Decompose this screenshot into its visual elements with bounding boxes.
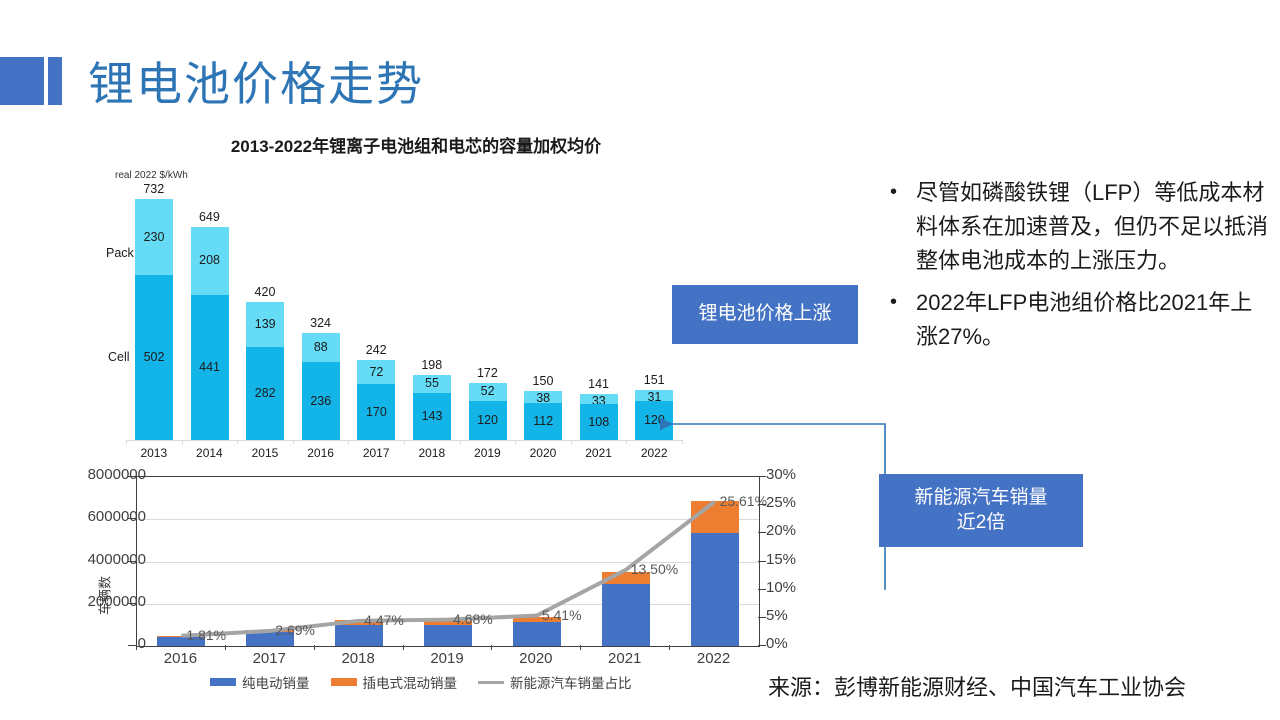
nev-sales-x-label: 2016 <box>136 650 224 667</box>
nev-sales-y2-tick-mark <box>758 645 766 646</box>
battery-price-chart: 2013-2022年锂离子电池组和电芯的容量加权均价 real 2022 $/k… <box>96 128 696 468</box>
battery-price-cell-segment: 143 <box>413 393 451 440</box>
nev-share-data-label: 5.41% <box>542 607 582 623</box>
callout-price-increase[interactable]: 锂电池价格上涨 <box>672 285 858 344</box>
battery-price-total-value: 198 <box>404 358 460 372</box>
battery-price-cell-value: 170 <box>357 405 395 419</box>
battery-price-plot-area: 2305027322084416491392824208823632472170… <box>126 190 682 440</box>
battery-price-bar-stack: 33108 <box>580 394 618 440</box>
battery-price-bar-group: 88236324 <box>293 190 349 440</box>
battery-price-cell-segment: 112 <box>524 403 562 440</box>
nev-sales-x-tick <box>225 645 226 650</box>
battery-price-cell-segment: 236 <box>302 362 340 440</box>
battery-price-pack-segment: 230 <box>135 199 173 275</box>
battery-price-bar-stack: 55143 <box>413 375 451 440</box>
battery-price-cell-value: 108 <box>580 415 618 429</box>
battery-price-pack-segment: 72 <box>357 360 395 384</box>
battery-price-bar-stack: 52120 <box>469 383 507 440</box>
nev-sales-y-tick-label: 6000000 <box>76 508 146 525</box>
battery-price-pack-segment: 31 <box>635 390 673 400</box>
battery-price-cell-segment: 108 <box>580 404 618 440</box>
battery-price-x-tick <box>460 440 461 444</box>
callout-sales-text: 新能源汽车销量 近2倍 <box>914 486 1047 535</box>
nev-share-data-label: 1.81% <box>186 627 226 643</box>
nev-sales-x-label: 2022 <box>670 650 758 667</box>
battery-price-cell-value: 441 <box>191 360 229 374</box>
legend-label-bev: 纯电动销量 <box>242 672 310 692</box>
bullet-marker-icon: • <box>890 176 916 278</box>
battery-price-total-value: 150 <box>515 374 571 388</box>
bullet-marker-icon: • <box>890 286 916 354</box>
nev-sales-y2-tick-label: 5% <box>766 607 826 624</box>
battery-price-cell-value: 143 <box>413 409 451 423</box>
battery-price-pack-value: 72 <box>357 365 395 379</box>
battery-price-pack-segment: 208 <box>191 227 229 295</box>
battery-price-x-label: 2018 <box>404 446 460 460</box>
battery-price-pack-value: 52 <box>469 384 507 398</box>
battery-price-cell-value: 236 <box>302 394 340 408</box>
battery-price-pack-segment: 52 <box>469 383 507 400</box>
battery-price-total-value: 151 <box>626 373 682 387</box>
nev-sales-y-tick-mark <box>128 645 136 646</box>
battery-price-cell-segment: 282 <box>246 347 284 440</box>
nev-sales-x-label: 2019 <box>403 650 491 667</box>
battery-price-unit-label: real 2022 $/kWh <box>115 170 188 181</box>
battery-price-cell-value: 502 <box>135 350 173 364</box>
nev-sales-x-label: 2020 <box>492 650 580 667</box>
battery-price-bar-group: 72170242 <box>348 190 404 440</box>
battery-price-x-tick <box>404 440 405 444</box>
battery-price-cell-segment: 502 <box>135 275 173 440</box>
battery-price-bar-stack: 208441 <box>191 227 229 440</box>
nev-sales-x-tick <box>314 645 315 650</box>
battery-price-x-label: 2020 <box>515 446 571 460</box>
page-title: 锂电池价格走势 <box>88 48 424 114</box>
nev-sales-x-label: 2017 <box>225 650 313 667</box>
nev-sales-y2-tick-mark <box>758 617 766 618</box>
legend-item-share: 新能源汽车销量占比 <box>478 672 632 692</box>
battery-price-bar-group: 38112150 <box>515 190 571 440</box>
legend-label-share: 新能源汽车销量占比 <box>510 672 632 692</box>
battery-price-total-value: 420 <box>237 285 293 299</box>
battery-price-x-label: 2014 <box>182 446 238 460</box>
battery-price-bar-group: 208441649 <box>182 190 238 440</box>
battery-price-cell-segment: 120 <box>469 401 507 440</box>
battery-price-total-value: 242 <box>348 343 404 357</box>
battery-price-pack-value: 208 <box>191 253 229 267</box>
battery-price-pack-segment: 139 <box>246 302 284 348</box>
battery-price-x-label: 2019 <box>460 446 516 460</box>
battery-price-total-value: 172 <box>460 366 516 380</box>
battery-price-pack-value: 139 <box>246 317 284 331</box>
nev-sales-legend: 纯电动销量 插电式混动销量 新能源汽车销量占比 <box>210 672 646 692</box>
battery-price-bar-stack: 230502 <box>135 199 173 440</box>
nev-sales-y-tick-label: 8000000 <box>76 466 146 483</box>
legend-label-phev: 插电式混动销量 <box>363 672 458 692</box>
header-accent-bar-narrow <box>48 57 62 105</box>
battery-price-cell-segment: 441 <box>191 295 229 440</box>
battery-price-pack-segment: 88 <box>302 333 340 362</box>
battery-price-bar-stack: 139282 <box>246 302 284 440</box>
battery-price-x-tick <box>515 440 516 444</box>
nev-sales-y-tick-label: 2000000 <box>76 593 146 610</box>
battery-price-x-tick <box>293 440 294 444</box>
battery-price-x-tick <box>626 440 627 444</box>
nev-share-data-label: 4.47% <box>364 612 404 628</box>
nev-sales-y2-tick-label: 0% <box>766 635 826 652</box>
battery-price-x-tick <box>348 440 349 444</box>
battery-price-total-value: 649 <box>182 210 238 224</box>
bullet-item: •2022年LFP电池组价格比2021年上涨27%。 <box>890 286 1270 354</box>
battery-price-bar-stack: 72170 <box>357 360 395 440</box>
battery-price-total-value: 324 <box>293 316 349 330</box>
battery-price-cell-value: 112 <box>524 414 562 428</box>
legend-line-share <box>478 681 504 684</box>
battery-price-x-tick <box>237 440 238 444</box>
battery-price-pack-value: 230 <box>135 230 173 244</box>
nev-sales-x-tick <box>580 645 581 650</box>
nev-sales-x-label: 2018 <box>314 650 402 667</box>
battery-price-pack-value: 88 <box>302 340 340 354</box>
nev-sales-x-tick <box>403 645 404 650</box>
battery-price-bar-stack: 38112 <box>524 391 562 440</box>
battery-price-x-tick <box>182 440 183 444</box>
battery-price-x-tick <box>571 440 572 444</box>
battery-price-cell-value: 120 <box>469 413 507 427</box>
battery-price-pack-segment: 33 <box>580 394 618 405</box>
nev-sales-x-tick <box>136 645 137 650</box>
battery-price-pack-segment: 55 <box>413 375 451 393</box>
legend-item-bev: 纯电动销量 <box>210 672 310 692</box>
bullet-text: 尽管如磷酸铁锂（LFP）等低成本材料体系在加速普及，但仍不足以抵消整体电池成本的… <box>916 176 1270 278</box>
legend-item-phev: 插电式混动销量 <box>331 672 458 692</box>
battery-price-total-value: 141 <box>571 377 627 391</box>
bullet-item: •尽管如磷酸铁锂（LFP）等低成本材料体系在加速普及，但仍不足以抵消整体电池成本… <box>890 176 1270 278</box>
nev-sales-x-tick <box>491 645 492 650</box>
nev-sales-y-tick-mark <box>128 561 136 562</box>
nev-sales-y-tick-mark <box>128 476 136 477</box>
battery-price-cell-segment: 170 <box>357 384 395 440</box>
nev-share-data-label: 4.68% <box>453 611 493 627</box>
nev-share-data-label: 2.69% <box>275 622 315 638</box>
battery-price-pack-segment: 38 <box>524 391 562 404</box>
battery-price-chart-title: 2013-2022年锂离子电池组和电芯的容量加权均价 <box>156 132 676 157</box>
legend-swatch-bev <box>210 678 236 686</box>
battery-price-x-label: 2015 <box>237 446 293 460</box>
battery-price-bar-group: 55143198 <box>404 190 460 440</box>
battery-price-bar-group: 33108141 <box>571 190 627 440</box>
nev-sales-y-tick-label: 4000000 <box>76 551 146 568</box>
battery-price-bar-group: 139282420 <box>237 190 293 440</box>
bullet-list: •尽管如磷酸铁锂（LFP）等低成本材料体系在加速普及，但仍不足以抵消整体电池成本… <box>890 176 1270 362</box>
battery-price-cell-value: 282 <box>246 386 284 400</box>
callout-sales-growth[interactable]: 新能源汽车销量 近2倍 <box>879 474 1083 547</box>
battery-price-x-label: 2013 <box>126 446 182 460</box>
source-note: 来源：彭博新能源财经、中国汽车工业协会 <box>768 670 1186 702</box>
battery-price-x-label: 2016 <box>293 446 349 460</box>
callout-connector-arrow <box>640 405 890 605</box>
battery-price-bar-stack: 88236 <box>302 333 340 440</box>
battery-price-bar-group: 52120172 <box>460 190 516 440</box>
nev-sales-y-tick-mark <box>128 518 136 519</box>
battery-price-x-tick <box>126 440 127 444</box>
battery-price-pack-value: 55 <box>413 376 451 390</box>
nev-sales-x-tick <box>669 645 670 650</box>
header-accent-bar-wide <box>0 57 44 105</box>
bullet-text: 2022年LFP电池组价格比2021年上涨27%。 <box>916 286 1270 354</box>
legend-swatch-phev <box>331 678 357 686</box>
battery-price-total-value: 732 <box>126 182 182 196</box>
battery-price-x-label: 2017 <box>348 446 404 460</box>
battery-price-bar-group: 230502732 <box>126 190 182 440</box>
nev-sales-x-label: 2021 <box>581 650 669 667</box>
battery-price-x-label: 2021 <box>571 446 627 460</box>
nev-sales-y-tick-mark <box>128 603 136 604</box>
